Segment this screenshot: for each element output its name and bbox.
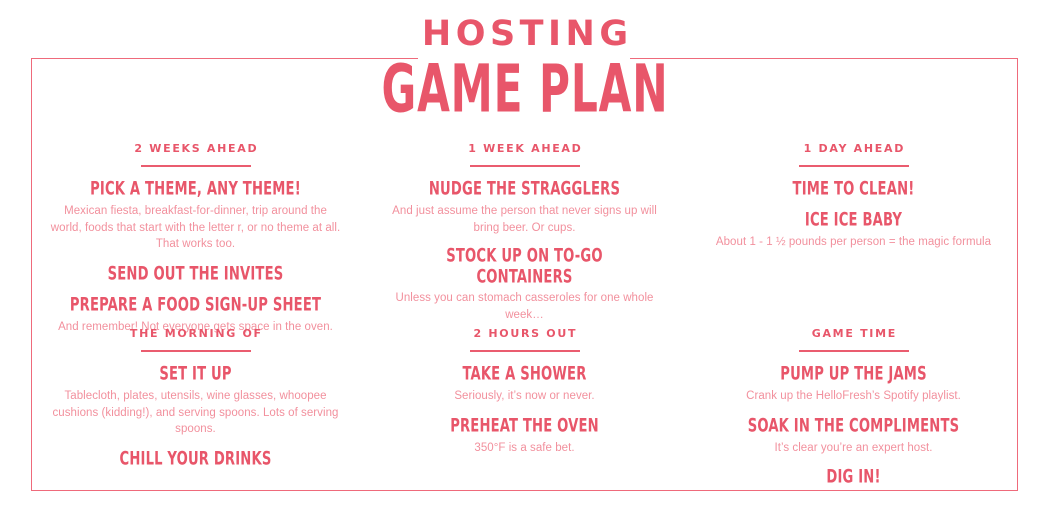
list-item: NUDGE THE STRAGGLERS And just assume the…: [378, 180, 671, 236]
item-heading: SOAK IN THE COMPLIMENTS: [728, 415, 980, 436]
section-1-day-ahead: 1 DAY AHEAD TIME TO CLEAN! ICE ICE BABY …: [689, 120, 1018, 305]
section-label: 1 WEEK AHEAD: [378, 142, 671, 156]
item-heading: TAKE A SHOWER: [399, 364, 651, 385]
section-label: THE MORNING OF: [49, 327, 342, 341]
section-2-hours-out: 2 HOURS OUT TAKE A SHOWER Seriously, it’…: [360, 305, 689, 491]
list-item: SET IT UP Tablecloth, plates, utensils, …: [49, 365, 342, 438]
list-item: CHILL YOUR DRINKS: [49, 450, 342, 469]
item-body: Seriously, it’s now or never.: [378, 388, 671, 405]
list-item: SEND OUT THE INVITES: [49, 265, 342, 284]
section-rule: [799, 165, 909, 167]
list-item: DIG IN!: [707, 468, 1000, 487]
item-heading: ICE ICE BABY: [728, 210, 980, 231]
item-body: Mexican fiesta, breakfast-for-dinner, tr…: [49, 203, 342, 253]
item-heading: TIME TO CLEAN!: [728, 179, 980, 200]
section-rule: [799, 350, 909, 352]
section-label: 2 WEEKS AHEAD: [49, 142, 342, 156]
section-1-week-ahead: 1 WEEK AHEAD NUDGE THE STRAGGLERS And ju…: [360, 120, 689, 305]
list-item: ICE ICE BABY About 1 - 1 ½ pounds per pe…: [707, 211, 1000, 251]
list-item: PUMP UP THE JAMS Crank up the HelloFresh…: [707, 365, 1000, 405]
list-item: TIME TO CLEAN!: [707, 180, 1000, 199]
section-label: 2 HOURS OUT: [378, 327, 671, 341]
item-heading: STOCK UP ON TO-GO CONTAINERS: [399, 246, 651, 289]
section-label: 1 DAY AHEAD: [707, 142, 1000, 156]
item-heading: PUMP UP THE JAMS: [728, 364, 980, 385]
item-heading: DIG IN!: [728, 467, 980, 488]
item-heading: PICK A THEME, ANY THEME!: [70, 179, 322, 200]
section-rule: [470, 350, 580, 352]
list-item: TAKE A SHOWER Seriously, it’s now or nev…: [378, 365, 671, 405]
sections-grid: 2 WEEKS AHEAD PICK A THEME, ANY THEME! M…: [31, 120, 1018, 491]
title-line-hosting: HOSTING: [0, 0, 1050, 54]
item-heading: SEND OUT THE INVITES: [70, 263, 322, 284]
section-game-time: GAME TIME PUMP UP THE JAMS Crank up the …: [689, 305, 1018, 491]
list-item: SOAK IN THE COMPLIMENTS It’s clear you’r…: [707, 417, 1000, 457]
title-line-game-plan: GAME PLAN: [84, 56, 966, 124]
item-heading: PREPARE A FOOD SIGN-UP SHEET: [70, 294, 322, 315]
list-item: PREHEAT THE OVEN 350°F is a safe bet.: [378, 417, 671, 457]
item-body: It’s clear you’re an expert host.: [707, 440, 1000, 457]
section-rule: [141, 350, 251, 352]
item-heading: SET IT UP: [70, 364, 322, 385]
item-heading: CHILL YOUR DRINKS: [70, 448, 322, 469]
item-heading: PREHEAT THE OVEN: [399, 415, 651, 436]
item-body: Tablecloth, plates, utensils, wine glass…: [49, 388, 342, 438]
item-body: About 1 - 1 ½ pounds per person = the ma…: [707, 234, 1000, 251]
section-the-morning-of: THE MORNING OF SET IT UP Tablecloth, pla…: [31, 305, 360, 491]
item-body: And just assume the person that never si…: [378, 203, 671, 236]
poster-title: HOSTING GAME PLAN: [0, 0, 1050, 114]
section-rule: [141, 165, 251, 167]
hosting-game-plan-poster: HOSTING GAME PLAN 2 WEEKS AHEAD PICK A T…: [0, 0, 1050, 530]
item-body: 350°F is a safe bet.: [378, 440, 671, 457]
item-body: Crank up the HelloFresh’s Spotify playli…: [707, 388, 1000, 405]
section-rule: [470, 165, 580, 167]
list-item: PICK A THEME, ANY THEME! Mexican fiesta,…: [49, 180, 342, 253]
item-heading: NUDGE THE STRAGGLERS: [399, 179, 651, 200]
section-label: GAME TIME: [707, 327, 1000, 341]
section-2-weeks-ahead: 2 WEEKS AHEAD PICK A THEME, ANY THEME! M…: [31, 120, 360, 305]
